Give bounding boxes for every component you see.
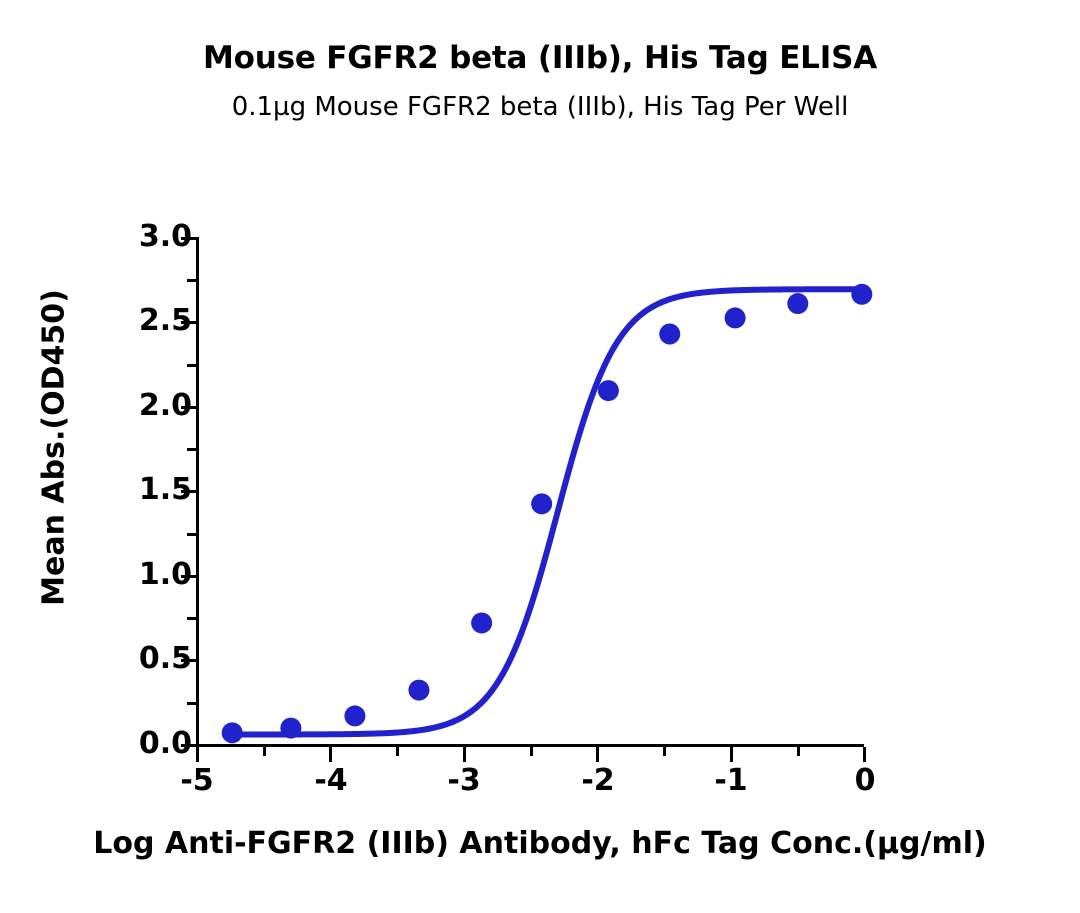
x-tick-label--3: -3: [424, 766, 504, 796]
y-tick-label-0.0: 0.0: [72, 729, 192, 759]
x-tick--3: [463, 747, 466, 762]
y-tick-minor-1.25: [187, 533, 196, 536]
y-tick-label-2.0: 2.0: [72, 391, 192, 421]
data-point: [222, 722, 243, 743]
data-point: [344, 705, 365, 726]
y-tick-minor-2.75: [187, 279, 196, 282]
x-tick--5: [196, 747, 199, 762]
y-axis-line: [196, 237, 199, 744]
x-tick-0: [863, 747, 866, 762]
x-tick-label-0: 0: [825, 766, 905, 796]
y-tick-minor-1.75: [187, 448, 196, 451]
data-point: [598, 380, 619, 401]
chart-title: Mouse FGFR2 beta (IIIb), His Tag ELISA: [0, 40, 1080, 76]
x-tick-minor--0.5: [797, 747, 800, 756]
y-tick-label-3.0: 3.0: [72, 222, 192, 252]
data-point: [408, 680, 429, 701]
x-tick-minor--2.5: [530, 747, 533, 756]
data-point: [725, 307, 746, 328]
x-tick--1: [730, 747, 733, 762]
x-tick-label--5: -5: [157, 766, 237, 796]
data-point: [280, 718, 301, 739]
x-tick--2: [596, 747, 599, 762]
x-tick-label--1: -1: [691, 766, 771, 796]
data-point: [787, 293, 808, 314]
y-tick-minor-2.25: [187, 364, 196, 367]
data-point: [531, 493, 552, 514]
y-tick-minor-0.25: [187, 702, 196, 705]
data-point: [851, 284, 872, 305]
y-axis-title: Mean Abs.(OD450): [37, 188, 72, 708]
chart-figure: Mouse FGFR2 beta (IIIb), His Tag ELISA 0…: [0, 0, 1080, 913]
y-tick-label-1.0: 1.0: [72, 560, 192, 590]
x-tick--4: [329, 747, 332, 762]
chart-subtitle: 0.1µg Mouse FGFR2 beta (IIIb), His Tag P…: [0, 92, 1080, 122]
y-tick-minor-0.75: [187, 617, 196, 620]
x-tick-minor--1.5: [663, 747, 666, 756]
y-tick-label-1.5: 1.5: [72, 475, 192, 505]
x-tick-minor--3.5: [396, 747, 399, 756]
data-point: [471, 612, 492, 633]
y-tick-label-2.5: 2.5: [72, 306, 192, 336]
x-tick-minor--4.5: [263, 747, 266, 756]
x-axis-title: Log Anti-FGFR2 (IIIb) Antibody, hFc Tag …: [0, 826, 1080, 861]
y-tick-label-0.5: 0.5: [72, 644, 192, 674]
x-tick-label--4: -4: [291, 766, 371, 796]
sigmoid-fit-curve: [232, 289, 862, 734]
data-point: [659, 323, 680, 344]
data-point-markers: [222, 284, 873, 744]
x-tick-label--2: -2: [558, 766, 638, 796]
